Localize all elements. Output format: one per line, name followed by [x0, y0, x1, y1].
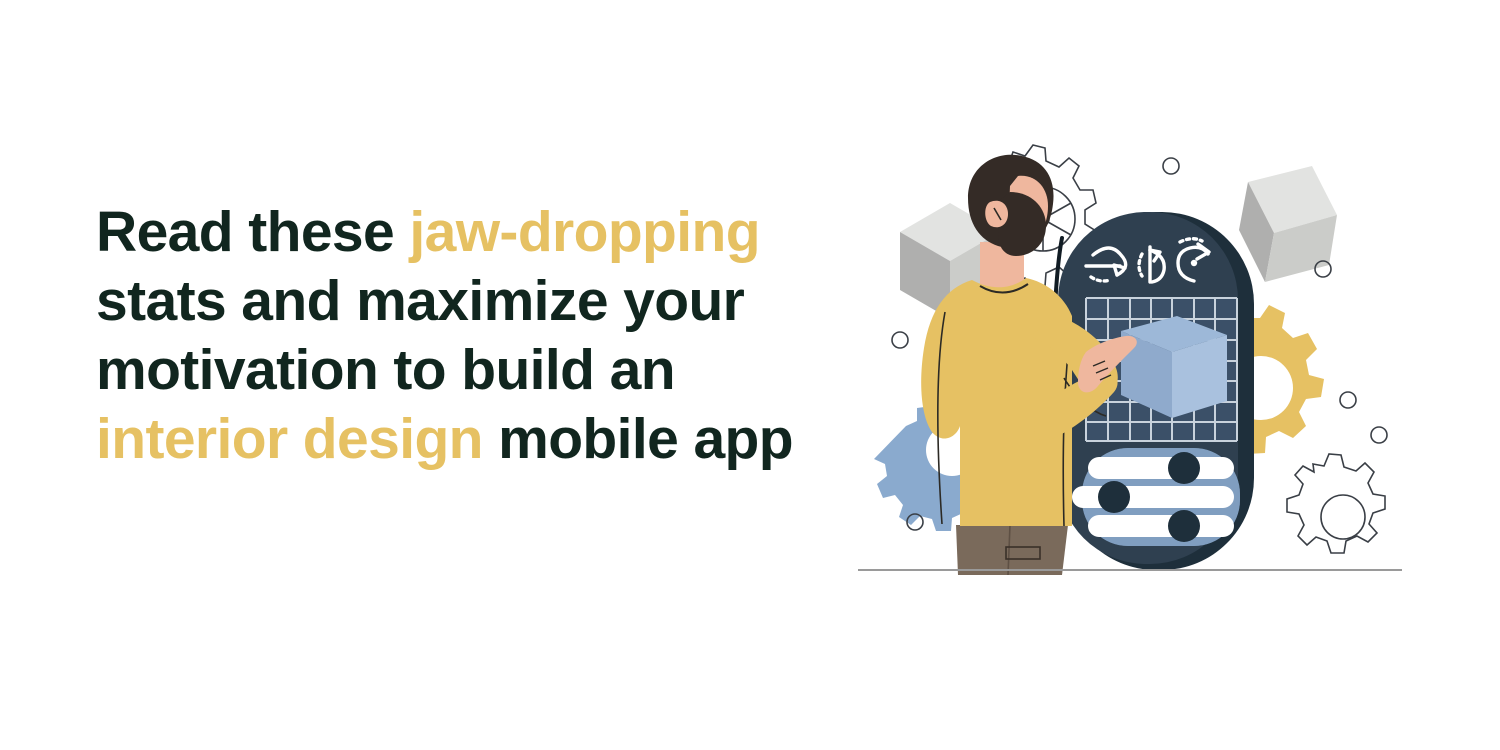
- man-trousers: [956, 525, 1068, 575]
- headline-line-3: motivation to build an: [96, 336, 816, 405]
- hero-illustration: [850, 130, 1410, 590]
- headline-line-4-plain: mobile app: [483, 407, 793, 471]
- slider-2-knob: [1098, 481, 1130, 513]
- headline-line-1-plain: Read these: [96, 200, 409, 264]
- headline-line-4: interior design mobile app: [96, 405, 816, 474]
- headline-line-4-accent: interior design: [96, 407, 483, 471]
- gray-cube-top-right: [1239, 166, 1337, 282]
- dot-mid-right: [1340, 392, 1356, 408]
- phone-slider-panel[interactable]: [1072, 448, 1240, 546]
- slider-1-knob: [1168, 452, 1200, 484]
- headline-line-2: stats and maximize your: [96, 267, 816, 336]
- headline-line-1: Read these jaw-dropping: [96, 198, 816, 267]
- dot-top: [1163, 158, 1179, 174]
- headline-block: Read these jaw-dropping stats and maximi…: [96, 198, 816, 474]
- dot-lower-right: [1371, 427, 1387, 443]
- page-title: Read these jaw-dropping stats and maximi…: [96, 198, 816, 474]
- dot-left: [892, 332, 908, 348]
- slider-3-knob: [1168, 510, 1200, 542]
- page-root: Read these jaw-dropping stats and maximi…: [0, 0, 1500, 750]
- headline-line-1-accent: jaw-dropping: [409, 200, 760, 264]
- gear-outline-bottom-right-icon: [1287, 454, 1385, 553]
